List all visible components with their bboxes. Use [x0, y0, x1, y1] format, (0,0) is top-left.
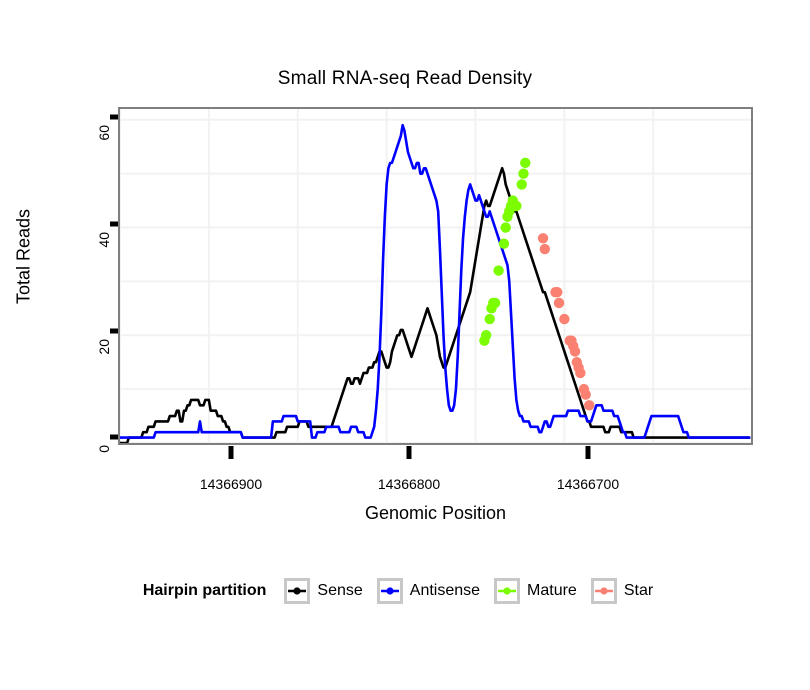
legend-label-antisense: Antisense — [410, 582, 480, 600]
x-axis-title: Genomic Position — [118, 503, 753, 524]
y-axis-title: Total Reads — [14, 167, 35, 347]
figure-panel: Small RNA-seq Read Density Total Reads 6… — [0, 0, 810, 690]
series-points-mature — [479, 158, 530, 346]
legend-key-mature-icon — [494, 578, 520, 604]
plot-area — [118, 107, 753, 445]
legend-item-antisense[interactable]: Antisense — [377, 578, 480, 604]
y-tick-label-0: 0 — [96, 445, 112, 485]
legend-item-mature[interactable]: Mature — [494, 578, 577, 604]
legend-key-sense-icon — [284, 578, 310, 604]
y-tick-label-20: 20 — [96, 339, 112, 379]
series-points-star — [538, 233, 595, 410]
legend-key-antisense-icon — [377, 578, 403, 604]
plot-svg — [120, 109, 751, 443]
x-tick-label-14366900: 14366900 — [171, 476, 291, 492]
legend-label-mature: Mature — [527, 582, 577, 600]
page-title: Small RNA-seq Read Density — [0, 68, 810, 90]
legend-key-star-icon — [591, 578, 617, 604]
legend-item-star[interactable]: Star — [591, 578, 653, 604]
legend-label-star: Star — [624, 582, 653, 600]
series-line-sense — [120, 168, 749, 443]
x-tick-label-14366800: 14366800 — [349, 476, 469, 492]
y-tick-label-60: 60 — [96, 125, 112, 165]
legend-title: Hairpin partition — [143, 582, 267, 600]
legend-label-sense: Sense — [317, 582, 362, 600]
y-tick-label-40: 40 — [96, 232, 112, 272]
x-tick-label-14366700: 14366700 — [528, 476, 648, 492]
legend: Hairpin partition Sense Antisense Mature… — [0, 578, 810, 604]
legend-item-sense[interactable]: Sense — [284, 578, 362, 604]
gridlines — [120, 109, 751, 443]
